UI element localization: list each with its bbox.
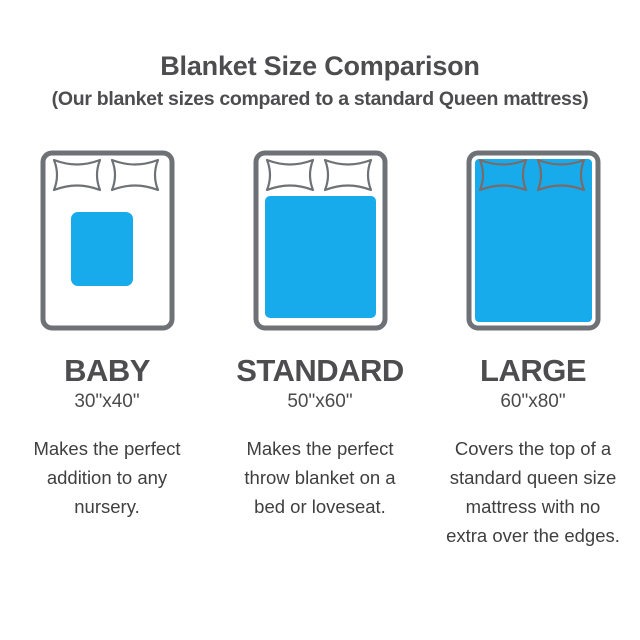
blanket-shape-standard — [265, 196, 376, 318]
pillow-right-icon — [325, 160, 371, 190]
comparison-column-standard: STANDARD 50"x60" Makes the perfect throw… — [253, 140, 388, 550]
bed-illustration-baby — [40, 140, 175, 340]
page-title: Blanket Size Comparison — [0, 50, 640, 82]
bed-diagram-standard — [253, 140, 388, 340]
blanket-shape-baby — [71, 212, 133, 286]
page-subtitle: (Our blanket sizes compared to a standar… — [0, 86, 640, 112]
pillow-left-icon — [54, 160, 100, 190]
size-dimensions-standard: 50"x60" — [287, 390, 352, 414]
pillow-right-icon — [112, 160, 158, 190]
bed-illustration-standard — [253, 140, 388, 340]
comparison-column-large: LARGE 60"x80" Covers the top of a standa… — [466, 140, 601, 550]
size-name-standard: STANDARD — [236, 354, 404, 388]
size-description-baby: Makes the perfect addition to any nurser… — [20, 434, 195, 521]
size-name-baby: BABY — [64, 354, 150, 388]
size-dimensions-large: 60"x80" — [500, 390, 565, 414]
bed-diagram-baby — [40, 140, 175, 340]
size-name-large: LARGE — [480, 354, 586, 388]
bed-diagram-large — [466, 140, 601, 340]
pillow-left-icon — [267, 160, 313, 190]
comparison-columns: BABY 30"x40" Makes the perfect addition … — [0, 140, 640, 550]
header: Blanket Size Comparison (Our blanket siz… — [0, 0, 640, 112]
bed-illustration-large — [466, 140, 601, 340]
comparison-column-baby: BABY 30"x40" Makes the perfect addition … — [40, 140, 175, 550]
size-description-large: Covers the top of a standard queen size … — [446, 434, 621, 550]
blanket-shape-large — [475, 159, 592, 322]
size-description-standard: Makes the perfect throw blanket on a bed… — [233, 434, 408, 521]
size-dimensions-baby: 30"x40" — [74, 390, 139, 414]
